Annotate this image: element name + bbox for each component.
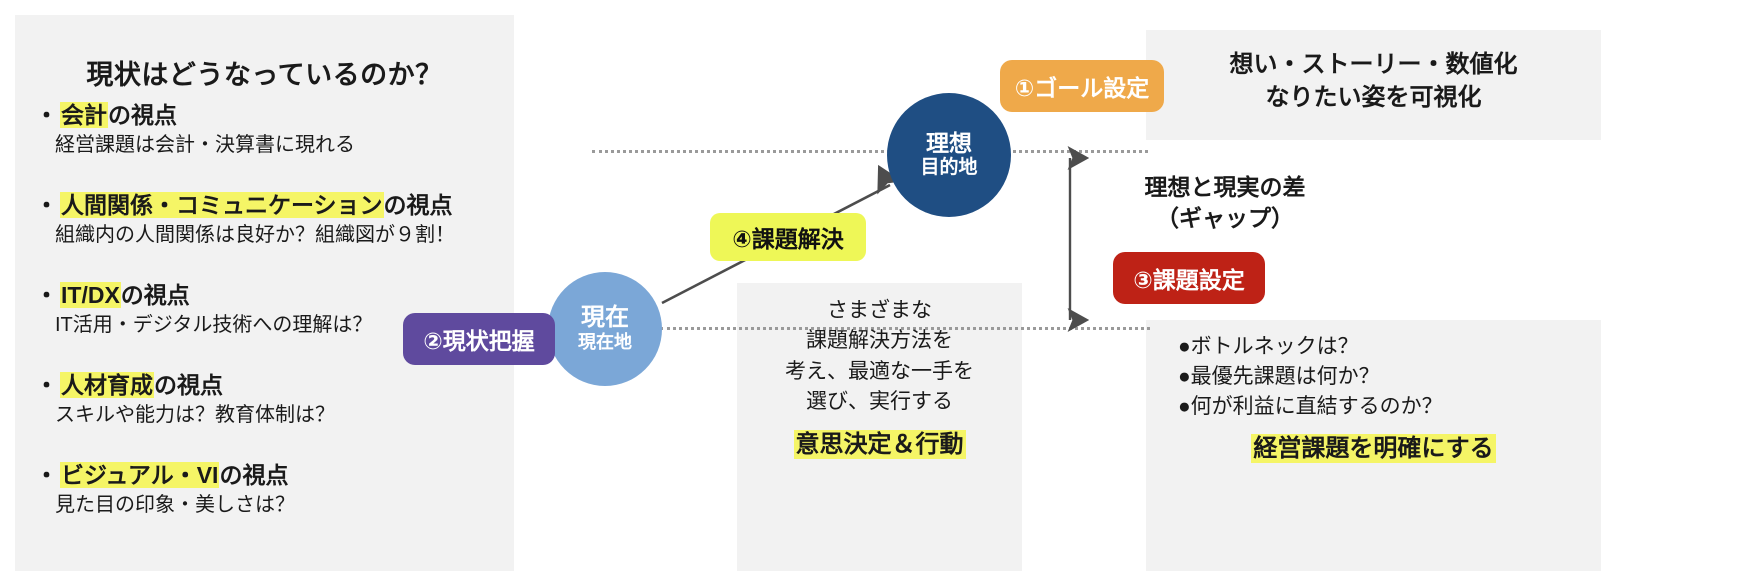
left-list-item-5-heading: ・ビジュアル・VIの視点 <box>35 461 510 490</box>
right-panel-list-item-3: ●何が利益に直結するのか？ <box>1178 392 1443 422</box>
middle-panel-body-line-3: 考え、最適な一手を <box>737 357 1022 387</box>
left-list-item-1-tail: の視点 <box>108 102 177 128</box>
tag-goal-setting[interactable]: ①ゴール設定 <box>1000 60 1164 112</box>
left-panel: 現状はどうなっているのか？ ・会計の視点 経営課題は会計・決算書に現れる ・人間… <box>15 15 514 571</box>
tag-issue-setting[interactable]: ③課題設定 <box>1113 252 1265 304</box>
right-panel-heading-line-2: なりたい姿を可視化 <box>1146 81 1601 114</box>
left-list-item-3-tail: の視点 <box>121 282 190 308</box>
current-state-circle-subtitle: 現在地 <box>578 332 632 352</box>
left-list-item-2-sub: 組織内の人間関係は良好か？組織図が９割！ <box>55 223 510 248</box>
left-list-item-5: ・ビジュアル・VIの視点 見た目の印象・美しさは？ <box>35 461 510 518</box>
left-list-item-2-highlight: 人間関係・コミュニケーション <box>60 192 384 218</box>
left-list-item-4-sub: スキルや能力は？教育体制は？ <box>55 403 510 428</box>
left-list-item-1-sub: 経営課題は会計・決算書に現れる <box>55 133 510 158</box>
tag-issue-resolution[interactable]: ④課題解決 <box>710 213 866 261</box>
left-list-item-2: ・人間関係・コミュニケーションの視点 組織内の人間関係は良好か？組織図が９割！ <box>35 191 510 248</box>
gap-label-line-1: 理想と現実の差 <box>1095 172 1355 203</box>
left-list-item-1-highlight: 会計 <box>60 102 108 128</box>
bullet-marker: ・ <box>35 372 58 398</box>
ideal-state-circle-title: 理想 <box>926 131 972 157</box>
middle-panel-emphasis-text: 意思決定＆行動 <box>794 430 966 459</box>
right-panel-emphasis-text: 経営課題を明確にする <box>1251 434 1495 463</box>
ideal-state-circle: 理想 目的地 <box>887 93 1011 217</box>
right-panel-list-item-2: ●最優先課題は何か？ <box>1178 362 1443 392</box>
right-panel-list-item-1: ●ボトルネックは？ <box>1178 332 1443 362</box>
bullet-marker: ・ <box>35 192 58 218</box>
middle-panel-emphasis: 意思決定＆行動 <box>737 424 1022 459</box>
left-list-item-4: ・人材育成の視点 スキルや能力は？教育体制は？ <box>35 371 510 428</box>
right-panel-heading: 想い・ストーリー・数値化 なりたい姿を可視化 <box>1146 48 1601 114</box>
ideal-level-dotted-line <box>592 150 1148 153</box>
tag-current-grasp[interactable]: ②現状把握 <box>403 313 555 365</box>
bullet-marker: ・ <box>35 462 58 488</box>
right-panel-emphasis: 経営課題を明確にする <box>1146 428 1601 463</box>
current-state-circle: 現在 現在地 <box>548 272 662 386</box>
left-list-item-2-heading: ・人間関係・コミュニケーションの視点 <box>35 191 510 220</box>
left-list-item-5-tail: の視点 <box>219 462 288 488</box>
gap-label: 理想と現実の差 （ギャップ） <box>1095 172 1355 234</box>
left-list-item-4-heading: ・人材育成の視点 <box>35 371 510 400</box>
bullet-marker: ・ <box>35 102 58 128</box>
left-list-item-5-sub: 見た目の印象・美しさは？ <box>55 493 510 518</box>
middle-panel-body-line-1: さまざまな <box>737 296 1022 326</box>
left-list-item-2-tail: の視点 <box>384 192 453 218</box>
middle-panel-body-line-2: 課題解決方法を <box>737 326 1022 356</box>
gap-label-line-2: （ギャップ） <box>1095 203 1355 234</box>
ideal-state-circle-subtitle: 目的地 <box>920 157 977 178</box>
left-list-item-3-highlight: IT/DX <box>60 282 121 308</box>
right-panel-heading-line-1: 想い・ストーリー・数値化 <box>1146 48 1601 81</box>
left-list-item-1: ・会計の視点 経営課題は会計・決算書に現れる <box>35 101 510 158</box>
left-list-item-5-highlight: ビジュアル・VI <box>60 462 219 488</box>
left-list-item-1-heading: ・会計の視点 <box>35 101 510 130</box>
middle-panel-body-line-4: 選び、実行する <box>737 387 1022 417</box>
left-panel-title: 現状はどうなっているのか？ <box>15 53 514 92</box>
current-state-circle-title: 現在 <box>581 305 629 332</box>
bullet-marker: ・ <box>35 282 58 308</box>
slide-canvas: 現状はどうなっているのか？ ・会計の視点 経営課題は会計・決算書に現れる ・人間… <box>0 0 1750 586</box>
left-list-item-4-tail: の視点 <box>154 372 223 398</box>
right-panel-list: ●ボトルネックは？ ●最優先課題は何か？ ●何が利益に直結するのか？ <box>1178 332 1443 421</box>
left-list-item-4-highlight: 人材育成 <box>60 372 154 398</box>
middle-panel-body: さまざまな 課題解決方法を 考え、最適な一手を 選び、実行する <box>737 296 1022 418</box>
left-list-item-3-heading: ・IT/DXの視点 <box>35 281 510 310</box>
